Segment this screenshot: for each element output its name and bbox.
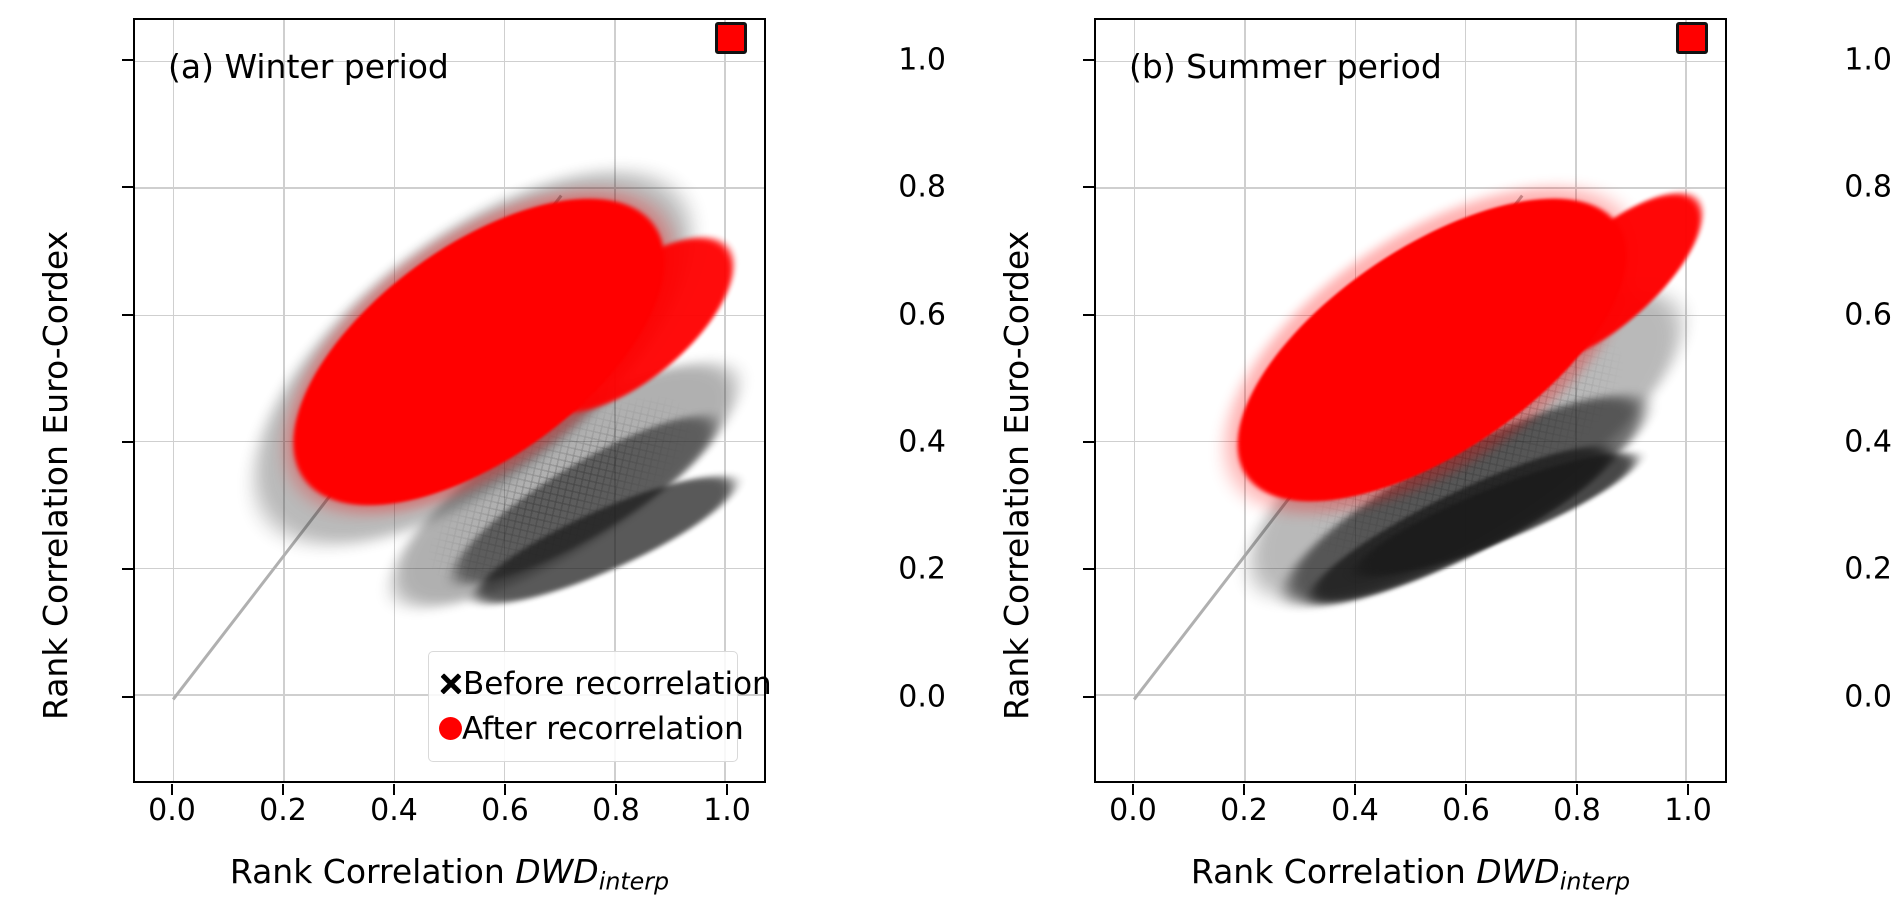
ytickmark-0.6: [1083, 314, 1094, 316]
legend-winter: Before recorrelation After recorrelation: [428, 651, 738, 762]
ytickmark-0.4: [122, 441, 133, 443]
ytick-label-0.4: 0.4: [1765, 425, 1892, 460]
xtick-label-0.4: 0.4: [370, 793, 418, 828]
ytick-label-0.0: 0.0: [1765, 680, 1892, 715]
xtick-label-0.2: 0.2: [1220, 793, 1268, 828]
ytick-label-0.2: 0.2: [1765, 552, 1892, 587]
ytickmark-0.6: [122, 314, 133, 316]
legend-item-before[interactable]: Before recorrelation: [439, 661, 727, 706]
xaxis-label-prefix: Rank Correlation: [230, 852, 515, 891]
ytickmark-0.2: [1083, 568, 1094, 570]
corner-cluster-summer: [1676, 22, 1708, 54]
xaxis-label-summer: Rank Correlation DWDinterp: [1094, 852, 1727, 896]
panel-winter: 1.0 0.8 0.6 0.4 0.2 0.0 0.0 0.2 0.4 0.6 …: [0, 0, 946, 909]
panel-label-winter: (a) Winter period: [168, 47, 449, 86]
xtick-label-0.0: 0.0: [148, 793, 196, 828]
ytick-label-0.2: 0.2: [834, 552, 946, 587]
ytick-label-0.8: 0.8: [834, 170, 946, 205]
xtick-label-0.6: 0.6: [1442, 793, 1490, 828]
ytickmark-1.0: [122, 59, 133, 61]
yaxis-label-summer: Rank Correlation Euro-Cordex: [997, 231, 1036, 720]
legend-label-before: Before recorrelation: [463, 666, 772, 702]
ytick-label-0.0: 0.0: [834, 680, 946, 715]
xtick-label-0.0: 0.0: [1109, 793, 1157, 828]
ytickmark-0.4: [1083, 441, 1094, 443]
xaxis-label-var: DWD: [1476, 852, 1559, 891]
panel-label-summer: (b) Summer period: [1129, 47, 1442, 86]
ytick-label-1.0: 1.0: [834, 43, 946, 78]
xtick-label-1.0: 1.0: [703, 793, 751, 828]
panel-summer: 1.0 0.8 0.6 0.4 0.2 0.0 0.0 0.2 0.4 0.6 …: [946, 0, 1892, 909]
ytickmark-0.8: [1083, 186, 1094, 188]
xtick-label-0.8: 0.8: [1553, 793, 1601, 828]
figure-root: 1.0 0.8 0.6 0.4 0.2 0.0 0.0 0.2 0.4 0.6 …: [0, 0, 1892, 909]
legend-label-after: After recorrelation: [462, 711, 744, 747]
xtick-label-0.4: 0.4: [1331, 793, 1379, 828]
ytick-label-0.6: 0.6: [1765, 298, 1892, 333]
corner-cluster-winter: [715, 22, 747, 54]
xaxis-label-winter: Rank Correlation DWDinterp: [133, 852, 766, 896]
ytickmark-0.8: [122, 186, 133, 188]
xtick-label-0.8: 0.8: [592, 793, 640, 828]
ytickmark-1.0: [1083, 59, 1094, 61]
ytickmark-0.0: [122, 696, 133, 698]
xtick-label-0.6: 0.6: [481, 793, 529, 828]
xaxis-label-var: DWD: [515, 852, 598, 891]
xtick-label-0.2: 0.2: [259, 793, 307, 828]
xaxis-label-sub: interp: [1560, 868, 1630, 896]
legend-marker-x-icon: [439, 672, 463, 696]
ytick-label-0.8: 0.8: [1765, 170, 1892, 205]
xaxis-label-prefix: Rank Correlation: [1191, 852, 1476, 891]
legend-marker-dot-icon: [439, 717, 462, 740]
xtick-label-1.0: 1.0: [1664, 793, 1712, 828]
ytick-label-1.0: 1.0: [1765, 43, 1892, 78]
yaxis-label-winter: Rank Correlation Euro-Cordex: [36, 231, 75, 720]
xaxis-label-sub: interp: [599, 868, 669, 896]
ytickmark-0.2: [122, 568, 133, 570]
plot-area-summer: [1094, 18, 1727, 783]
ytick-label-0.6: 0.6: [834, 298, 946, 333]
ytick-label-0.4: 0.4: [834, 425, 946, 460]
legend-item-after[interactable]: After recorrelation: [439, 706, 727, 751]
ytickmark-0.0: [1083, 696, 1094, 698]
